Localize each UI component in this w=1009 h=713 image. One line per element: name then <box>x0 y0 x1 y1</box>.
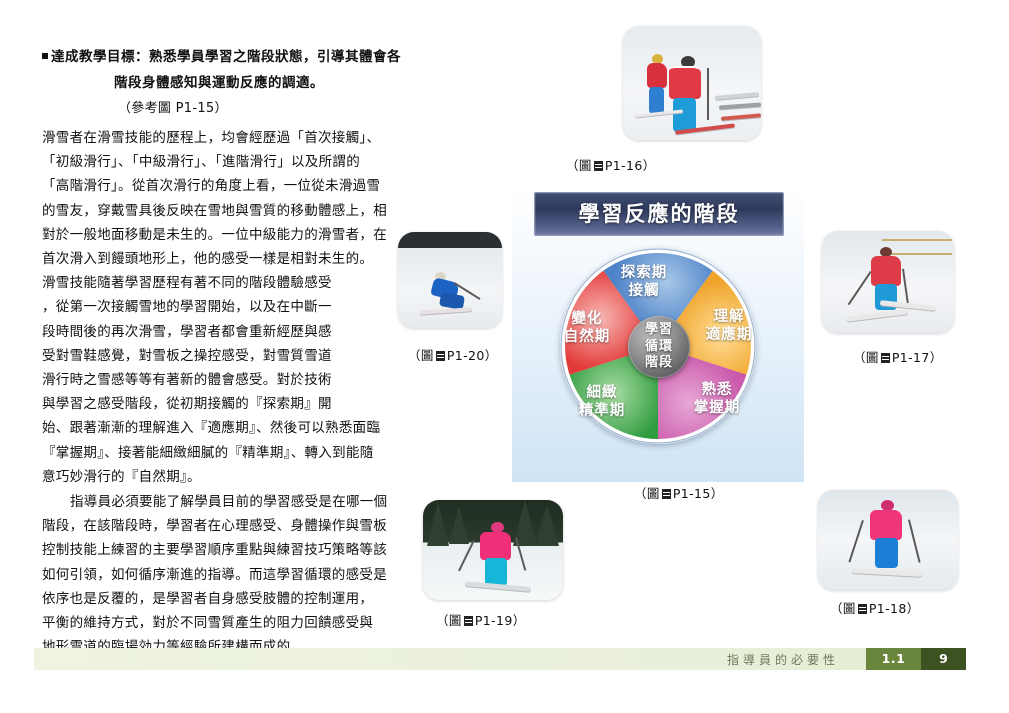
skier-jacket <box>669 66 701 99</box>
paragraph-line: 首次滑入到饅頭地形上，他的感受一樣是相對未生的。 <box>42 247 442 271</box>
paragraph-line: 意巧妙滑行的『自然期』。 <box>42 465 442 489</box>
skier-figure <box>667 56 705 134</box>
figure-reference: （參考圖 P1-15） <box>42 96 442 122</box>
paragraph-line: 階段，在該階段時，學習者在心理感受、身體操作與雪板 <box>42 514 442 538</box>
figure-glyph-icon <box>594 161 603 171</box>
hub-label: 學習 循環 階段 <box>628 322 690 372</box>
paragraph-two: 指導員必須要能了解學員目前的學習感受是在哪一個 階段，在該階段時，學習者在心理感… <box>42 490 442 659</box>
figure-caption-p1-15: （圖P1-15） <box>634 483 724 502</box>
skier-pants <box>673 98 696 132</box>
figure-glyph-icon <box>858 604 867 614</box>
footer-section-number: 1.1 <box>866 648 921 670</box>
skier-jacket <box>871 256 901 286</box>
slice-label-familiarity: 熟悉掌握期 <box>682 381 752 417</box>
footer-page-number: 9 <box>921 648 966 670</box>
figure-photo-p1-16 <box>623 26 761 140</box>
skier-figure <box>868 500 906 568</box>
paragraph-line: 滑行時之雪感等等有著新的體會感受。對於技術 <box>42 368 442 392</box>
diagram-title-banner: 學習反應的階段 <box>534 192 784 236</box>
paragraph-line: 如何引領，如何循序漸進的指導。而這學習循環的感受是 <box>42 563 442 587</box>
figure-glyph-icon <box>436 351 445 361</box>
ski-pole <box>707 68 709 120</box>
footer-section-title: 指導員的必要性 <box>727 651 839 668</box>
paragraph-line: 與學習之感受階段，從初期接觸的『探索期』開 <box>42 392 442 416</box>
diagram-title: 學習反應的階段 <box>535 198 783 228</box>
paragraph-line: 滑雪者在滑雪技能的歷程上，均會經歷過「首次接觸」、 <box>42 126 442 150</box>
figure-glyph-icon <box>464 616 473 626</box>
paragraph-line: 依序也是反覆的，是學習者自身感受肢體的控制運用， <box>42 587 442 611</box>
objective-heading-line2: 階段身體感知與運動反應的調適。 <box>42 70 442 96</box>
tree-line-background <box>398 232 502 248</box>
paragraph-line: 滑雪技能隨著學習歷程有著不同的階段體驗感受 <box>42 271 442 295</box>
skier-figure <box>479 522 515 584</box>
skier-figure <box>432 272 468 310</box>
slice-label-precision: 細緻精準期 <box>566 384 638 420</box>
figure-photo-p1-18 <box>818 490 958 590</box>
learning-stage-diagram: 學習反應的階段 <box>512 186 804 482</box>
figure-glyph-icon <box>881 353 890 363</box>
paragraph-line: 的雪友，穿戴雪具後反映在雪地與雪質的移動體感上，相 <box>42 199 442 223</box>
slice-label-exploration: 探索期接觸 <box>608 264 680 300</box>
skier-pants <box>485 558 507 586</box>
slice-label-natural: 變化自然期 <box>552 310 622 346</box>
skier-jacket <box>647 63 667 88</box>
paragraph-line: 對於一般地面移動是未生的。一位中級能力的滑雪者，在 <box>42 223 442 247</box>
paragraph-line: ，從第一次接觸雪地的學習開始，以及在中斷一 <box>42 295 442 319</box>
paragraph-line: 「初級滑行」、「中級滑行」、「進階滑行」以及所謂的 <box>42 150 442 174</box>
figure-photo-p1-17 <box>822 231 954 333</box>
figure-caption-p1-19: （圖P1-19） <box>436 610 526 629</box>
wheel-hub: 學習 循環 階段 <box>628 316 690 378</box>
skier-pants <box>649 87 664 114</box>
page-canvas: 達成教學目標：熟悉學員學習之階段狀態，引導其體會各 階段身體感知與運動反應的調適… <box>0 0 1009 713</box>
figure-photo-p1-20 <box>398 232 502 328</box>
paragraph-line: 指導員必須要能了解學員目前的學習感受是在哪一個 <box>42 490 442 514</box>
skier-pants <box>875 538 898 568</box>
square-bullet-icon <box>42 53 48 59</box>
paragraph-line: 始、跟著漸漸的理解進入『適應期』、然後可以熟悉面臨 <box>42 416 442 440</box>
paragraph-line: 受對雪鞋感覺，對雪板之操控感受，對雪質雪道 <box>42 344 442 368</box>
paragraph-line: 「高階滑行」。從首次滑行的角度上看，一位從未滑過雪 <box>42 174 442 198</box>
body-text-column: 達成教學目標：熟悉學員學習之階段狀態，引導其體會各 階段身體感知與運動反應的調適… <box>42 44 442 659</box>
paragraph-one: 滑雪者在滑雪技能的歷程上，均會經歷過「首次接觸」、 「初級滑行」、「中級滑行」、… <box>42 126 442 489</box>
skier-jacket <box>480 532 511 560</box>
skier-figure <box>870 247 904 309</box>
figure-caption-p1-16: （圖P1-16） <box>566 155 656 174</box>
figure-caption-p1-17: （圖P1-17） <box>853 347 943 366</box>
figure-caption-p1-20: （圖P1-20） <box>408 345 498 364</box>
paragraph-line: 『掌握期』、接著能細緻細膩的『精準期』、轉入到能隨 <box>42 441 442 465</box>
paragraph-line: 控制技能上練習的主要學習順序重點與練習技巧策略等該 <box>42 538 442 562</box>
figure-photo-p1-19 <box>423 500 563 600</box>
figure-glyph-icon <box>662 489 671 499</box>
paragraph-line: 平衡的維持方式，對於不同雪質產生的阻力回饋感受與 <box>42 611 442 635</box>
skier-jacket <box>870 510 902 540</box>
paragraph-line: 段時間後的再次滑雪，學習者都會重新經歷與感 <box>42 320 442 344</box>
figure-caption-p1-18: （圖P1-18） <box>830 598 920 617</box>
objective-heading-line1: 達成教學目標：熟悉學員學習之階段狀態，引導其體會各 <box>42 44 442 70</box>
slice-label-understanding: 理解適應期 <box>694 308 764 344</box>
